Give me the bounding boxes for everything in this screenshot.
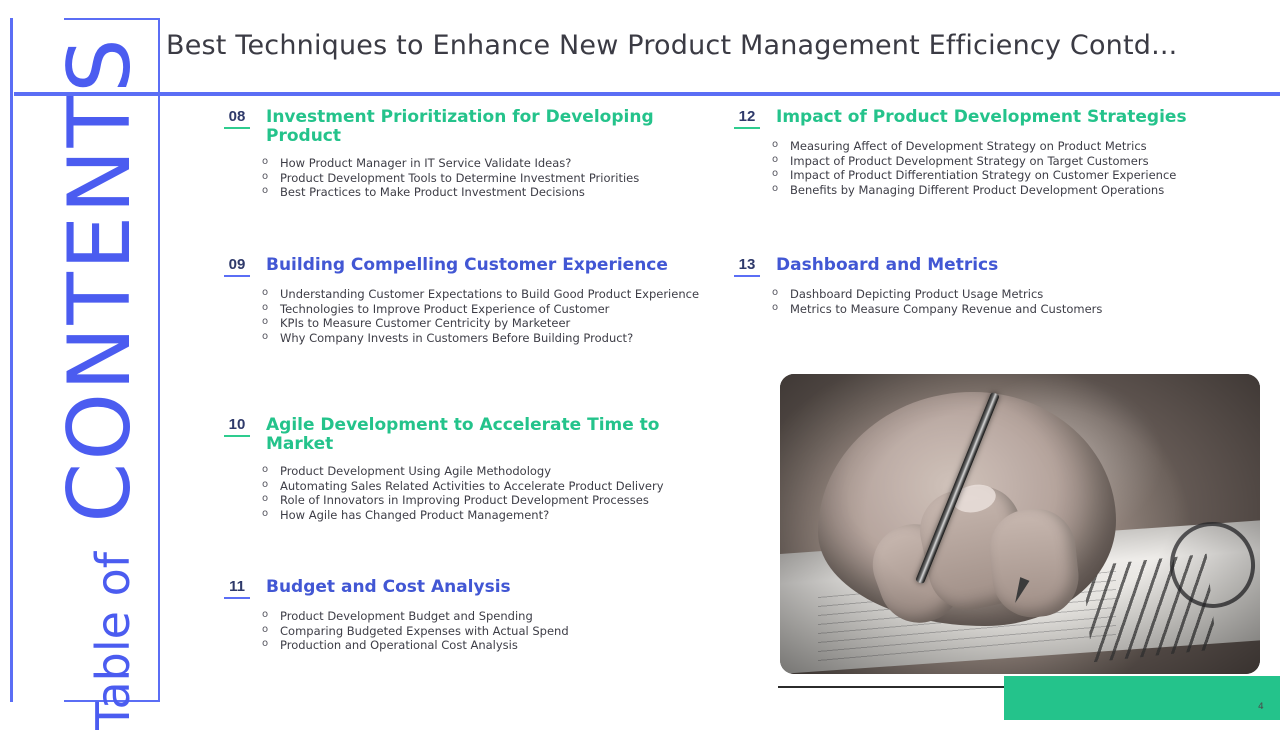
section-12-header: 12 Impact of Product Development Strateg… [734,108,1204,129]
list-item: Dashboard Depicting Product Usage Metric… [770,287,1204,302]
list-item: How Agile has Changed Product Management… [260,508,714,523]
section-10: 10 Agile Development to Accelerate Time … [224,416,714,522]
section-09-title: Building Compelling Customer Experience [266,256,668,275]
page-title: Best Techniques to Enhance New Product M… [166,30,1256,61]
section-13-header: 13 Dashboard and Metrics [734,256,1204,277]
section-09-list: Understanding Customer Expectations to B… [224,287,714,345]
section-09-number: 09 [224,256,250,277]
vertical-label-large: CONTENTS [50,36,150,522]
hand-writing-photo [780,374,1260,674]
title-divider [14,92,1280,96]
list-item: Product Development Using Agile Methodol… [260,464,714,479]
left-rail: Table of CONTENTS [0,0,160,720]
list-item: Role of Innovators in Improving Product … [260,493,714,508]
photo-vignette [780,374,1260,674]
list-item: How Product Manager in IT Service Valida… [260,156,694,171]
footer-green-bar [1004,676,1280,720]
section-13: 13 Dashboard and Metrics Dashboard Depic… [734,256,1204,316]
list-item: Impact of Product Development Strategy o… [770,154,1204,169]
section-13-title: Dashboard and Metrics [776,256,998,275]
list-item: Understanding Customer Expectations to B… [260,287,714,302]
section-09: 09 Building Compelling Customer Experien… [224,256,714,345]
section-10-title: Agile Development to Accelerate Time to … [266,416,714,454]
section-10-header: 10 Agile Development to Accelerate Time … [224,416,714,454]
section-08-list: How Product Manager in IT Service Valida… [224,156,694,200]
section-13-list: Dashboard Depicting Product Usage Metric… [734,287,1204,316]
list-item: Product Development Budget and Spending [260,609,694,624]
vertical-contents-label: Table of CONTENTS [50,30,150,730]
section-10-list: Product Development Using Agile Methodol… [224,464,714,522]
section-11-number: 11 [224,578,250,599]
section-13-number: 13 [734,256,760,277]
list-item: Technologies to Improve Product Experien… [260,302,714,317]
vertical-label-small: Table of [86,552,140,730]
list-item: Measuring Affect of Development Strategy… [770,139,1204,154]
section-12-title: Impact of Product Development Strategies [776,108,1187,127]
list-item: Why Company Invests in Customers Before … [260,331,714,346]
list-item: Impact of Product Differentiation Strate… [770,168,1204,183]
section-08-header: 08 Investment Prioritization for Develop… [224,108,694,146]
section-08-number: 08 [224,108,250,129]
section-08-title: Investment Prioritization for Developing… [266,108,694,146]
section-09-header: 09 Building Compelling Customer Experien… [224,256,714,277]
section-12-list: Measuring Affect of Development Strategy… [734,139,1204,197]
list-item: Benefits by Managing Different Product D… [770,183,1204,198]
section-10-number: 10 [224,416,250,437]
rail-accent-line [10,18,13,702]
section-11-list: Product Development Budget and Spending … [224,609,694,653]
section-11: 11 Budget and Cost Analysis Product Deve… [224,578,694,653]
footer-rule [778,686,1006,688]
list-item: Best Practices to Make Product Investmen… [260,185,694,200]
list-item: Automating Sales Related Activities to A… [260,479,714,494]
section-11-header: 11 Budget and Cost Analysis [224,578,694,599]
list-item: Product Development Tools to Determine I… [260,171,694,186]
page-number: 4 [1258,702,1264,712]
section-12-number: 12 [734,108,760,129]
section-08: 08 Investment Prioritization for Develop… [224,108,694,200]
section-12: 12 Impact of Product Development Strateg… [734,108,1204,197]
list-item: Production and Operational Cost Analysis [260,638,694,653]
list-item: Metrics to Measure Company Revenue and C… [770,302,1204,317]
section-11-title: Budget and Cost Analysis [266,578,511,597]
list-item: Comparing Budgeted Expenses with Actual … [260,624,694,639]
list-item: KPIs to Measure Customer Centricity by M… [260,316,714,331]
